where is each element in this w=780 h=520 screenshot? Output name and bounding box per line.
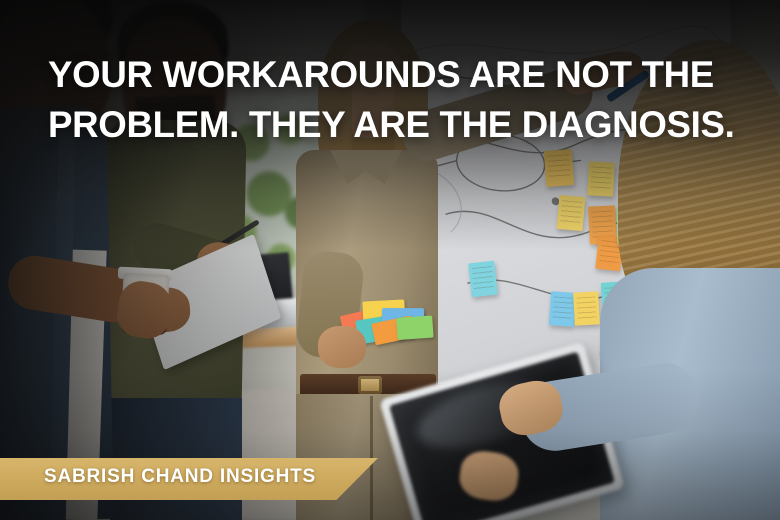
person-woman-tan-hand-lower (318, 326, 366, 368)
headline-line-2: PROBLEM. THEY ARE THE DIAGNOSIS. (48, 100, 721, 150)
headline: YOUR WORKAROUNDS ARE NOT THE PROBLEM. TH… (48, 50, 721, 150)
sticky-note (573, 291, 600, 325)
sticky-note (549, 291, 576, 327)
headline-line-1: YOUR WORKAROUNDS ARE NOT THE (48, 50, 721, 100)
brand-ribbon-label: SABRISH CHAND INSIGHTS (44, 466, 316, 488)
quote-card: YOUR WORKAROUNDS ARE NOT THE PROBLEM. TH… (0, 0, 780, 520)
sticky-note (468, 261, 497, 298)
